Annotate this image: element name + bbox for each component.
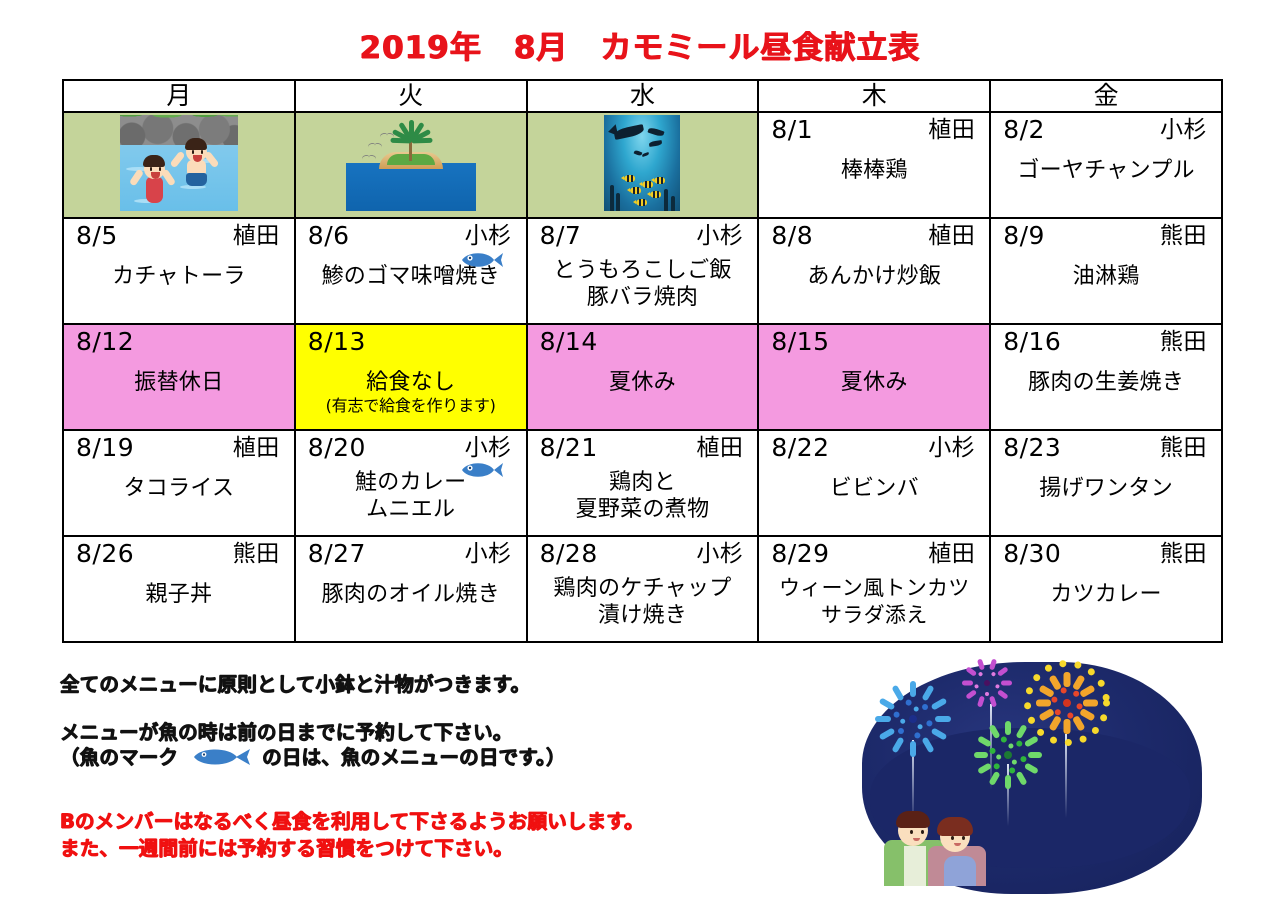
cell-date: 8/7 [540,221,582,251]
cell-date: 8/8 [771,221,813,251]
calendar-week-row: 8/26 熊田 親子丼 8/27 小杉 豚肉のオイル焼き 8/28 小杉 [63,536,1222,642]
cell-menu: 鶏肉と 夏野菜の煮物 [528,463,758,523]
cell-menu: 鶏肉のケチャップ 漬け焼き [528,569,758,629]
day-cell[interactable]: 8/1 植田 棒棒鶏 [758,112,990,218]
tropical-island-icon [346,115,476,211]
day-cell-no-lunch[interactable]: 8/13 給食なし (有志で給食を作ります) [295,324,527,430]
cell-menu: 給食なし [296,357,526,396]
cell-menu: 夏休み [759,357,989,396]
swimming-kids-icon [120,115,238,211]
cell-date: 8/28 [540,539,598,569]
firework-burst-purple [986,682,987,683]
day-cell-holiday[interactable]: 8/12 振替休日 [63,324,295,430]
cell-date: 8/27 [308,539,366,569]
cell-menu: ビビンバ [759,463,989,502]
cell-cook: 植田 [928,539,977,569]
weekday-header-row: 月 火 水 木 金 [63,80,1222,112]
cell-date: 8/22 [771,433,829,463]
cell-cook: 植田 [233,433,282,463]
cell-cook: 熊田 [1160,433,1209,463]
day-cell[interactable]: 8/21 植田 鶏肉と 夏野菜の煮物 [527,430,759,536]
menu-calendar: 月 火 水 木 金 [62,79,1223,643]
note-red-2: また、一週間前には予約する習慣をつけて下さい。 [60,835,760,862]
cell-date: 8/9 [1003,221,1045,251]
cell-menu: 振替休日 [64,357,294,396]
cell-cook: 植田 [233,221,282,251]
fireworks-illustration [862,662,1202,894]
cell-menu: とうもろこしご飯 豚バラ焼肉 [528,251,758,311]
day-cell[interactable]: 8/5 植田 カチャトーラ [63,218,295,324]
cell-cook: 熊田 [233,539,282,569]
notes-red-section: Bのメンバーはなるべく昼食を利用して下さるようお願いします。 また、一週間前には… [60,808,760,862]
cell-menu: カツカレー [991,569,1221,608]
cell-date: 8/30 [1003,539,1061,569]
cell-cook: 小杉 [465,221,514,251]
cell-menu: ウィーン風トンカツ サラダ添え [759,569,989,629]
note-line-2: メニューが魚の時は前の日までに予約して下さい。 [60,720,760,745]
day-cell[interactable]: 8/28 小杉 鶏肉のケチャップ 漬け焼き [527,536,759,642]
cell-date: 8/12 [76,327,134,357]
firework-burst-yellow [1066,702,1067,703]
cell-menu: 油淋鶏 [991,251,1221,290]
cell-cook: 小杉 [696,221,745,251]
day-cell[interactable]: 8/27 小杉 豚肉のオイル焼き [295,536,527,642]
cell-date: 8/19 [76,433,134,463]
cell-menu-note: (有志で給食を作ります) [296,396,526,415]
cell-date: 8/6 [308,221,350,251]
note-red-1: Bのメンバーはなるべく昼食を利用して下さるようお願いします。 [60,808,760,835]
cell-cook: 小杉 [928,433,977,463]
fish-icon [189,746,251,768]
calendar-table: 月 火 水 木 金 [62,79,1223,643]
day-cell[interactable]: 8/8 植田 あんかけ炒飯 [758,218,990,324]
illustration-cell-tropical-island [295,112,527,218]
cell-date: 8/26 [76,539,134,569]
cell-date: 8/29 [771,539,829,569]
day-cell[interactable]: 8/26 熊田 親子丼 [63,536,295,642]
cell-menu: あんかけ炒飯 [759,251,989,290]
day-cell[interactable]: 8/7 小杉 とうもろこしご飯 豚バラ焼肉 [527,218,759,324]
note-line-3-before: （魚のマーク [60,746,178,769]
cell-date: 8/2 [1003,115,1045,145]
cell-menu: カチャトーラ [64,251,294,290]
cell-cook: 植田 [696,433,745,463]
illustration-cell-underwater [527,112,759,218]
cell-date: 8/14 [540,327,598,357]
cell-menu: 夏休み [528,357,758,396]
firework-burst-green [1007,754,1008,755]
cell-cook: 小杉 [696,539,745,569]
notes-section: 全てのメニューに原則として小鉢と汁物がつきます。 メニューが魚の時は前の日までに… [60,672,760,770]
cell-menu: 棒棒鶏 [759,145,989,184]
cell-menu: 豚肉の生姜焼き [991,357,1221,396]
weekday-header-mon: 月 [63,80,295,112]
illustration-cell-swimming-kids [63,112,295,218]
weekday-header-wed: 水 [527,80,759,112]
weekday-header-fri: 金 [990,80,1222,112]
day-cell-holiday[interactable]: 8/15 夏休み [758,324,990,430]
day-cell-holiday[interactable]: 8/14 夏休み [527,324,759,430]
cell-menu: タコライス [64,463,294,502]
cell-cook: 小杉 [465,539,514,569]
calendar-week-row: 8/19 植田 タコライス 8/20 小杉 [63,430,1222,536]
weekday-header-tue: 火 [295,80,527,112]
cell-cook: 植田 [928,115,977,145]
cell-cook: 小杉 [1160,115,1209,145]
day-cell[interactable]: 8/29 植田 ウィーン風トンカツ サラダ添え [758,536,990,642]
day-cell[interactable]: 8/30 熊田 カツカレー [990,536,1222,642]
cell-date: 8/20 [308,433,366,463]
cell-date: 8/23 [1003,433,1061,463]
weekday-header-thu: 木 [758,80,990,112]
cell-cook: 熊田 [1160,327,1209,357]
cell-menu: 揚げワンタン [991,463,1221,502]
page-title: 2019年 8月 カモミール昼食献立表 [0,22,1280,67]
underwater-sharks-icon [604,115,680,211]
calendar-week-row: 8/1 植田 棒棒鶏 8/2 小杉 ゴーヤチャンプル [63,112,1222,218]
cell-date: 8/15 [771,327,829,357]
cell-date: 8/5 [76,221,118,251]
cell-menu: 親子丼 [64,569,294,608]
cell-menu: ゴーヤチャンプル [991,145,1221,184]
cell-date: 8/1 [771,115,813,145]
firework-burst-blue [912,718,913,719]
cell-date: 8/16 [1003,327,1061,357]
day-cell[interactable]: 8/22 小杉 ビビンバ [758,430,990,536]
day-cell[interactable]: 8/16 熊田 豚肉の生姜焼き [990,324,1222,430]
day-cell[interactable]: 8/23 熊田 揚げワンタン [990,430,1222,536]
day-cell[interactable]: 8/19 植田 タコライス [63,430,295,536]
calendar-week-row: 8/5 植田 カチャトーラ 8/6 小杉 [63,218,1222,324]
cell-cook: 熊田 [1160,221,1209,251]
fish-icon [458,249,504,271]
note-line-3: （魚のマーク の日は、魚のメニューの日です。） [60,745,760,770]
cell-date: 8/21 [540,433,598,463]
cell-cook: 植田 [928,221,977,251]
note-line-3-after: の日は、魚のメニューの日です。） [262,746,566,769]
cell-menu: 豚肉のオイル焼き [296,569,526,608]
day-cell[interactable]: 8/9 熊田 油淋鶏 [990,218,1222,324]
day-cell[interactable]: 8/20 小杉 鮭のカレー ムニエル [295,430,527,536]
calendar-week-row: 8/12 振替休日 8/13 給食なし (有志で給食を作ります) 8/14 [63,324,1222,430]
day-cell[interactable]: 8/2 小杉 ゴーヤチャンプル [990,112,1222,218]
day-cell[interactable]: 8/6 小杉 鯵のゴマ味噌焼き [295,218,527,324]
fish-icon [458,459,504,481]
cell-cook: 熊田 [1160,539,1209,569]
yukata-couple-icon [884,794,996,886]
note-line-1: 全てのメニューに原則として小鉢と汁物がつきます。 [60,672,760,697]
cell-date: 8/13 [308,327,366,357]
